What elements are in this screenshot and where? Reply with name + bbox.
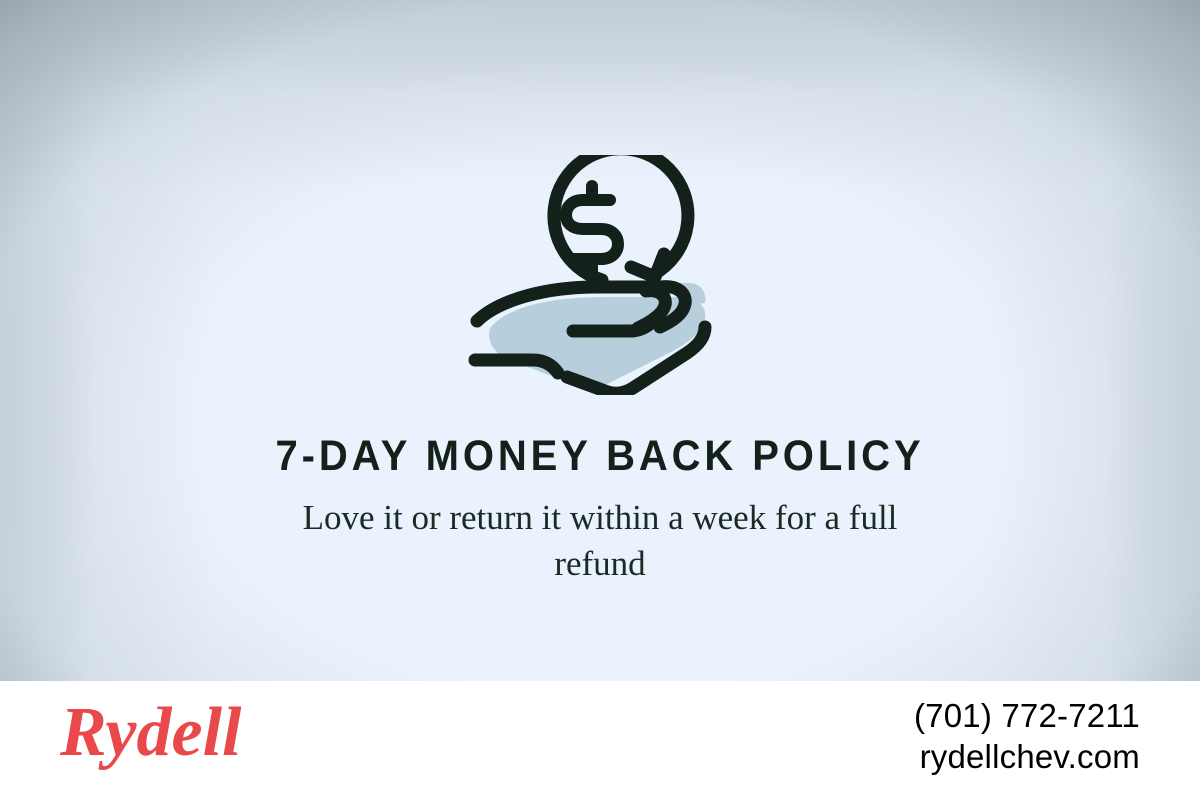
money-back-policy-card: 7-DAY MONEY BACK POLICY Love it or retur… bbox=[0, 0, 1200, 800]
rydell-logo-text: Rydell bbox=[60, 694, 242, 771]
rydell-logo[interactable]: Rydell bbox=[60, 693, 305, 773]
website-url[interactable]: rydellchev.com bbox=[914, 736, 1140, 777]
footer-bar: Rydell (701) 772-7211 rydellchev.com bbox=[0, 681, 1200, 800]
page-subtitle: Love it or return it within a week for a… bbox=[280, 495, 920, 587]
return-arrow-head bbox=[631, 254, 664, 277]
page-title: 7-DAY MONEY BACK POLICY bbox=[42, 432, 1158, 481]
contact-block: (701) 772-7211 rydellchev.com bbox=[914, 695, 1140, 777]
hero-section: 7-DAY MONEY BACK POLICY Love it or retur… bbox=[0, 0, 1200, 681]
phone-number[interactable]: (701) 772-7211 bbox=[914, 695, 1140, 736]
money-back-hand-icon bbox=[455, 155, 745, 395]
dollar-sign-icon bbox=[566, 186, 618, 273]
